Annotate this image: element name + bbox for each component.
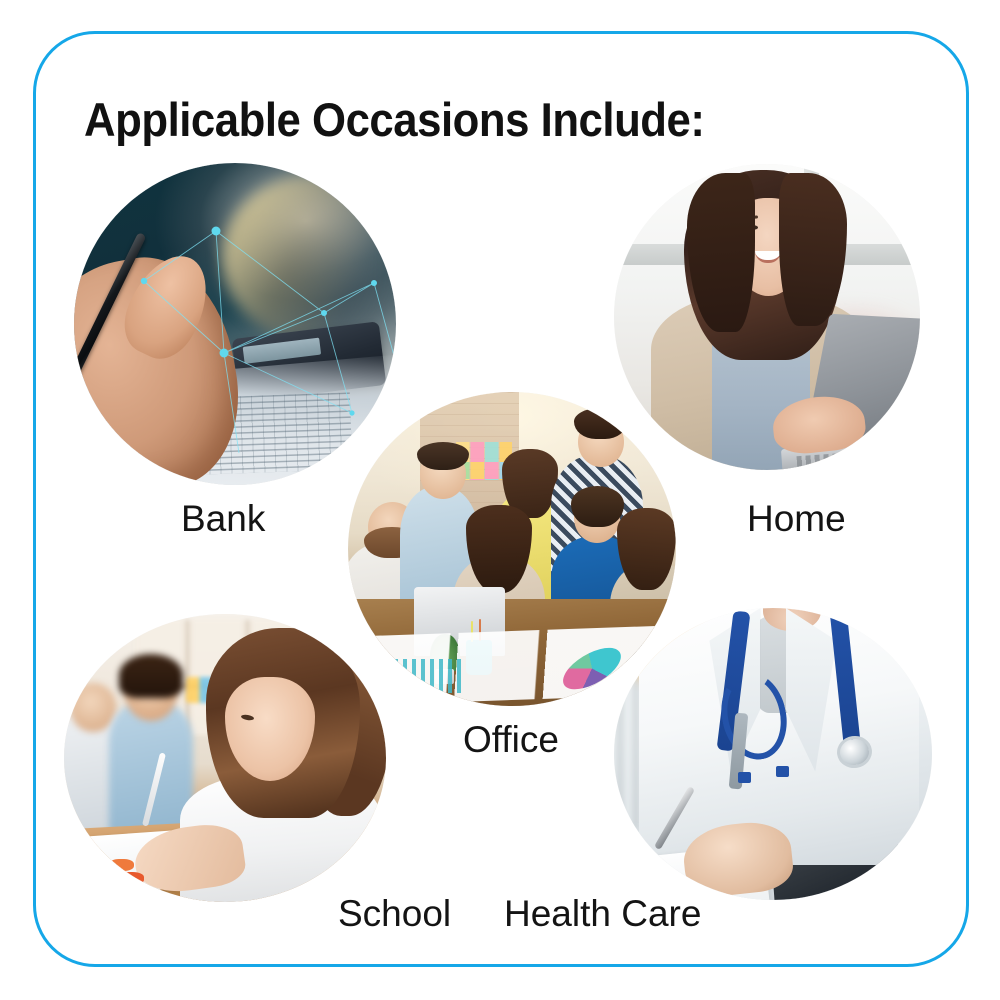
occasion-label-health-care: Health Care <box>504 893 701 935</box>
school-photo <box>64 614 386 902</box>
product-infographic-page: Applicable Occasions Include: <box>0 0 1000 1000</box>
occasion-label-school: School <box>338 893 451 935</box>
office-photo <box>348 392 676 706</box>
occasion-circle-school <box>64 614 386 902</box>
occasion-circle-office <box>348 392 676 706</box>
occasion-label-bank: Bank <box>181 498 265 540</box>
occasion-label-home: Home <box>747 498 846 540</box>
occasion-label-office: Office <box>463 719 559 761</box>
foam-letters <box>77 847 161 884</box>
page-title: Applicable Occasions Include: <box>84 92 735 147</box>
